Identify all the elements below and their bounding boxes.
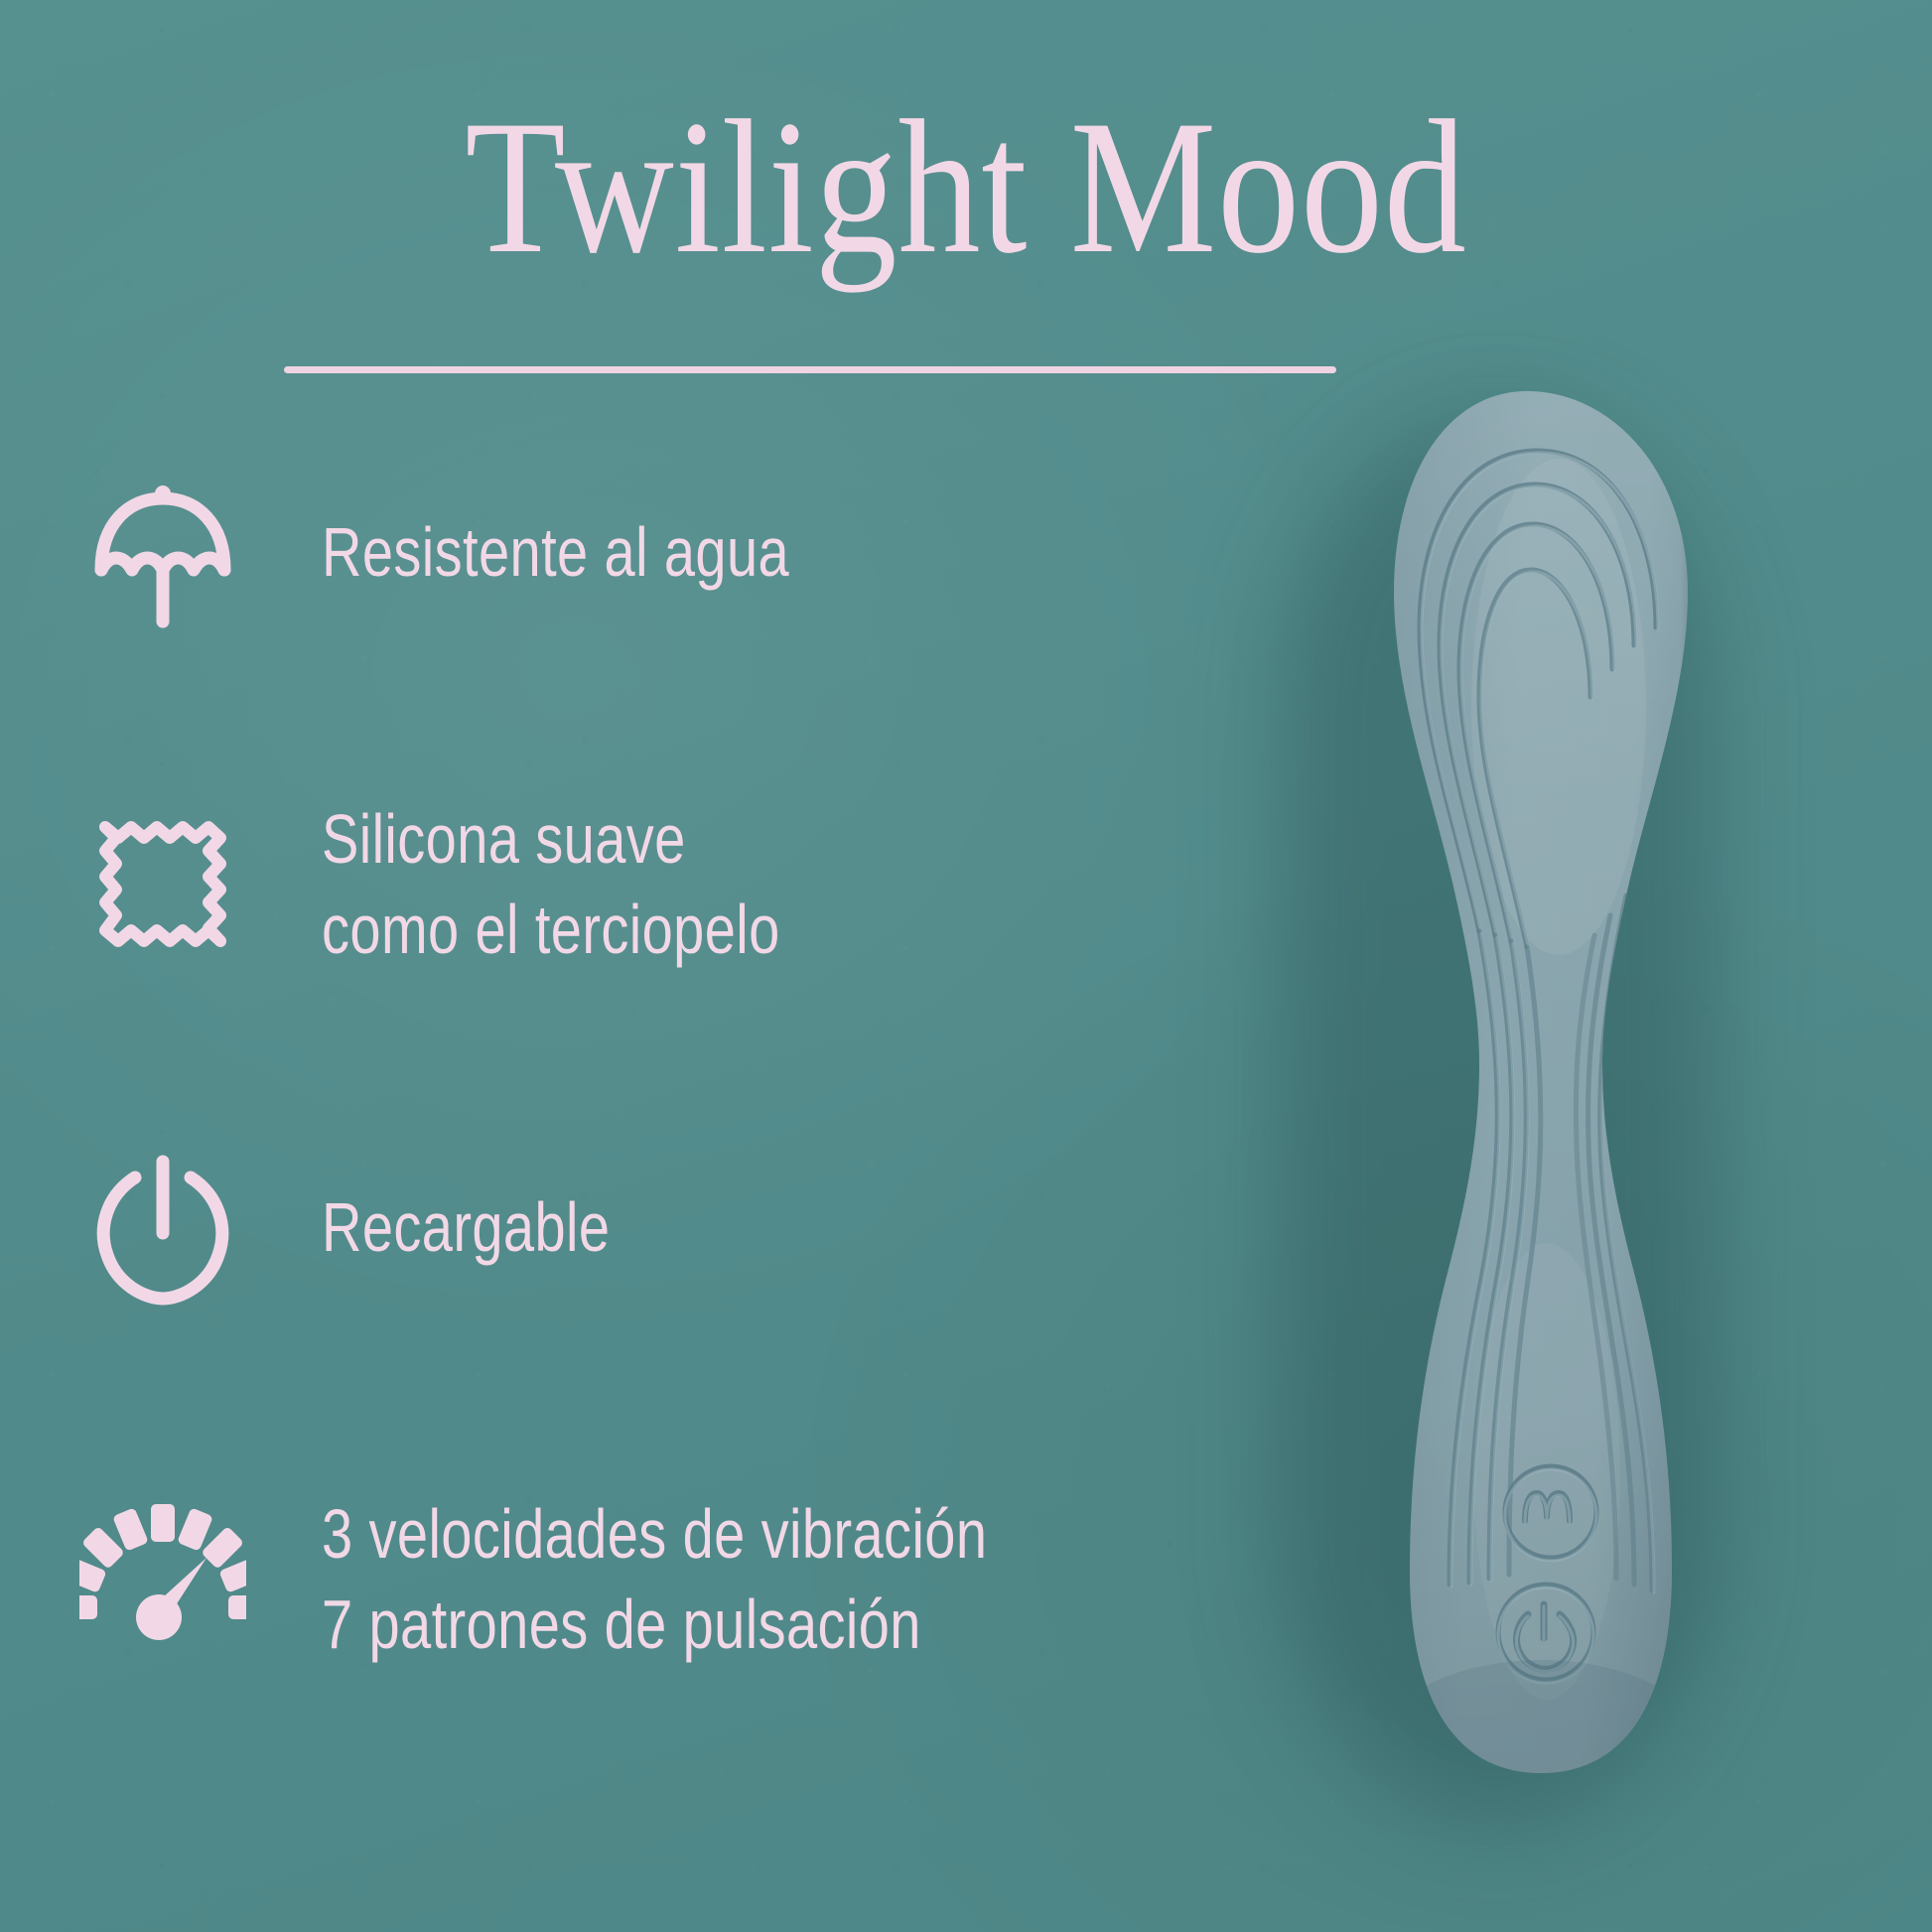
- umbrella-icon: [77, 467, 248, 637]
- feature-item-water-resistant: Resistente al agua: [77, 467, 906, 637]
- feature-list: Resistente al agua Silicona suave como e…: [0, 0, 1092, 1932]
- feature-text: Silicona suave como el terciopelo: [322, 794, 780, 975]
- feature-line-1: Recargable: [322, 1188, 610, 1266]
- feature-line-2: 7 patrones de pulsación: [322, 1580, 987, 1670]
- feature-text: Resistente al agua: [322, 507, 789, 598]
- feature-line-1: Resistente al agua: [322, 513, 789, 591]
- speedometer-icon: [77, 1494, 248, 1665]
- fabric-swatch-icon: [77, 799, 248, 970]
- feature-item-speeds-patterns: 3 velocidades de vibración 7 patrones de…: [77, 1489, 1154, 1670]
- power-icon: [77, 1142, 248, 1312]
- feature-text: 3 velocidades de vibración 7 patrones de…: [322, 1489, 987, 1670]
- product-image: [1299, 379, 1855, 1849]
- product-infographic: Twilight Mood Resistente al agua: [0, 0, 1932, 1932]
- feature-item-soft-silicone: Silicona suave como el terciopelo: [77, 794, 895, 975]
- feature-line-1: 3 velocidades de vibración: [322, 1495, 987, 1573]
- feature-text: Recargable: [322, 1182, 610, 1273]
- feature-line-2: como el terciopelo: [322, 885, 780, 975]
- feature-line-1: Silicona suave: [322, 800, 686, 878]
- feature-item-rechargeable: Recargable: [77, 1142, 682, 1312]
